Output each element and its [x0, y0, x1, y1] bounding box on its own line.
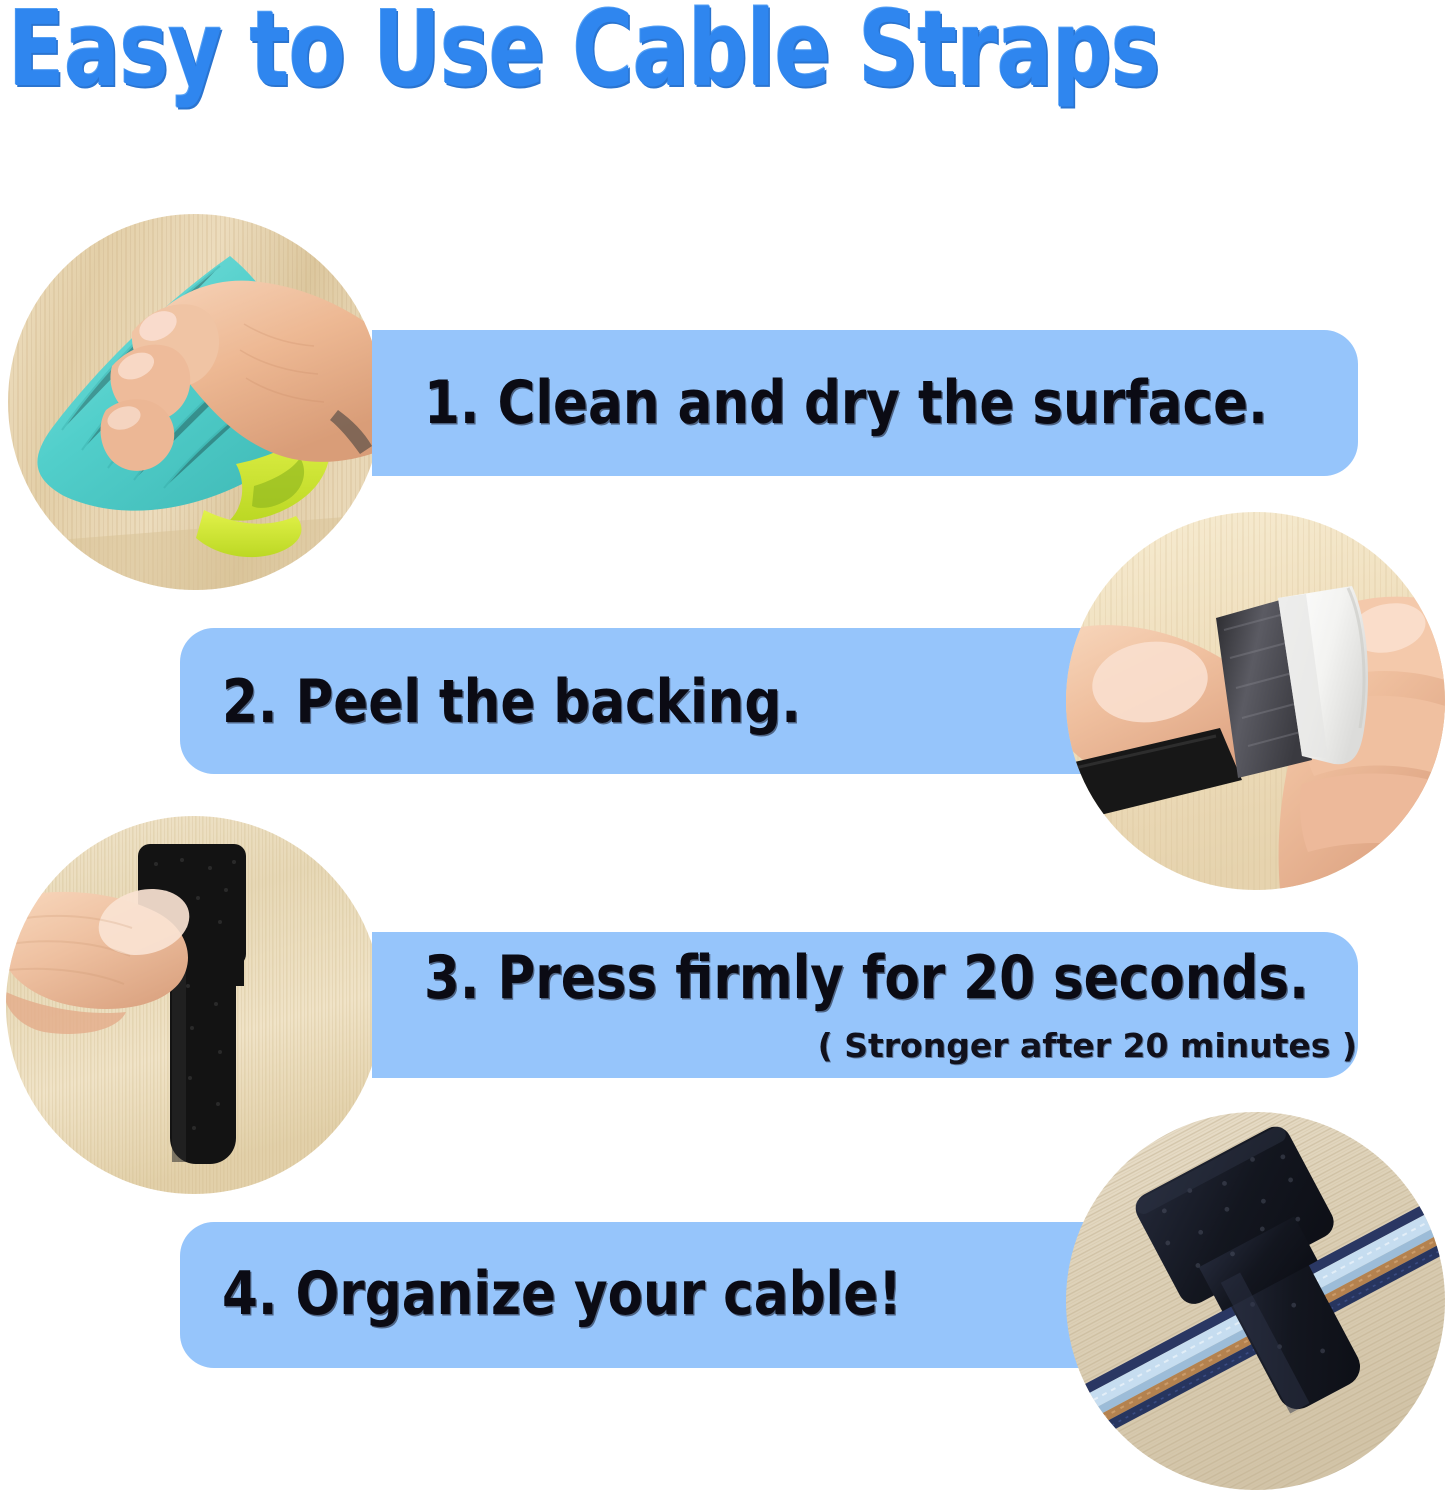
step-3-note: ( Stronger after 20 minutes )	[818, 1028, 1357, 1064]
step-2-photo	[1066, 512, 1445, 890]
step-1-photo	[8, 214, 382, 590]
page-title: Easy to Use Cable Straps	[8, 0, 1008, 104]
step-1-text: 1. Clean and dry the surface.	[424, 373, 1268, 433]
step-4-photo	[1066, 1112, 1445, 1490]
step-3-photo	[6, 816, 382, 1194]
step-3-text: 3. Press firmly for 20 seconds.	[424, 948, 1309, 1008]
step-2-text: 2. Peel the backing.	[222, 672, 801, 732]
step-4-text: 4. Organize your cable!	[222, 1264, 902, 1324]
